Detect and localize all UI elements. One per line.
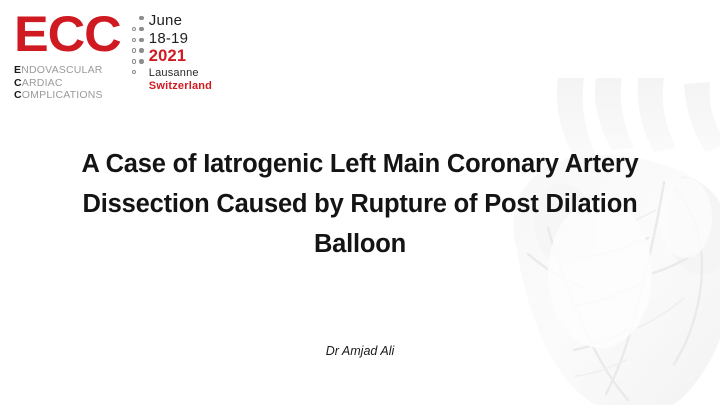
event-year: 2021 [149, 48, 212, 65]
ecc-expansion-cap-c1: C [14, 77, 22, 89]
event-details: June 18-19 2021 Lausanne Switzerland [149, 13, 212, 92]
ecc-expansion-rest-endovascular: NDOVASCULAR [21, 64, 102, 76]
slide-title-line-3: Balloon [40, 224, 680, 264]
ecc-expansion-text: ENDOVASCULAR CARDIAC COMPLICATIONS [14, 64, 103, 102]
ecc-logo-left: ECC ENDOVASCULAR CARDIAC COMPLICATIONS [14, 12, 122, 102]
dot-filled-icon [139, 16, 143, 20]
event-month: June [149, 13, 212, 28]
slide-title: A Case of Iatrogenic Left Main Coronary … [40, 144, 680, 264]
ecc-expansion-line-endovascular: ENDOVASCULAR [14, 64, 103, 77]
slide-title-line-2: Dissection Caused by Rupture of Post Dil… [40, 184, 680, 224]
ecc-congress-logo: ECC ENDOVASCULAR CARDIAC COMPLICATIONS [14, 12, 212, 102]
dot-hollow-icon [132, 70, 136, 74]
ecc-expansion-cap-c2: C [14, 89, 22, 101]
ecc-expansion-rest-cardiac: ARDIAC [22, 77, 63, 89]
presenter-name: Dr Amjad Ali [0, 344, 720, 358]
ecc-expansion-rest-complications: OMPLICATIONS [22, 89, 103, 101]
dot-hollow-icon [132, 48, 136, 52]
dot-filled-icon [139, 27, 143, 31]
dot-filled-icon [139, 48, 143, 52]
ecc-logo-right: June 18-19 2021 Lausanne Switzerland [132, 12, 212, 92]
dot-hollow-icon [132, 38, 136, 42]
dot-filled-icon [139, 59, 143, 63]
event-country: Switzerland [149, 81, 212, 92]
dot-filled-icon [139, 38, 143, 42]
dot-hollow-icon [132, 59, 136, 63]
slide-title-line-1: A Case of Iatrogenic Left Main Coronary … [40, 144, 680, 184]
presentation-title-slide: ECC ENDOVASCULAR CARDIAC COMPLICATIONS [0, 0, 720, 405]
dot-blank-icon [139, 70, 143, 74]
dot-column-left [132, 16, 136, 74]
dot-hollow-icon [132, 27, 136, 31]
ecc-expansion-line-cardiac: CARDIAC [14, 77, 103, 90]
ecc-wordmark: ECC [14, 12, 121, 56]
dot-blank-icon [132, 16, 136, 20]
event-days: 18-19 [149, 31, 212, 46]
event-city: Lausanne [149, 68, 212, 79]
ecc-expansion-line-complications: COMPLICATIONS [14, 89, 103, 102]
dot-column-right [139, 16, 143, 74]
dot-pattern-decoration [132, 13, 144, 74]
